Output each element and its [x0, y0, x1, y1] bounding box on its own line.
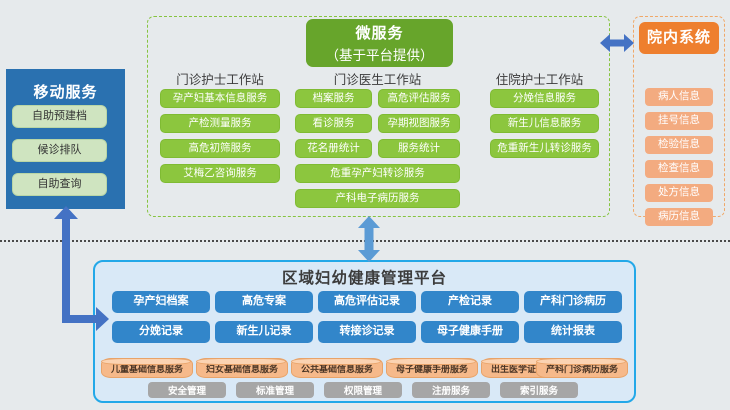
mobile-item-0[interactable]: 自助预建档 — [12, 105, 107, 128]
platform-button-r2-0[interactable]: 分娩记录 — [112, 321, 210, 343]
microservice-header: 微服务 （基于平台提供） — [306, 19, 453, 67]
platform-button-r2-1[interactable]: 新生儿记录 — [215, 321, 313, 343]
mobile-item-1[interactable]: 候诊排队 — [12, 139, 107, 162]
data-service-label-2: 公共基础信息服务 — [301, 362, 373, 375]
data-service-label-3: 母子健康手册服务 — [396, 362, 468, 375]
service-outpatient-nurse-0[interactable]: 孕产妇基本信息服务 — [160, 89, 280, 108]
platform-button-r2-2[interactable]: 转接诊记录 — [318, 321, 416, 343]
service-outpatient-nurse-2[interactable]: 高危初筛服务 — [160, 139, 280, 158]
hospital-system-title: 院内系统 — [639, 22, 719, 54]
service-outpatient-doctor-2[interactable]: 看诊服务 — [295, 114, 372, 133]
column-title-inpatient-nurse: 住院护士工作站 — [477, 69, 602, 88]
connector-mobile-to-platform-icon — [44, 205, 114, 330]
management-service-2[interactable]: 权限管理 — [324, 382, 402, 398]
data-service-0[interactable]: 儿童基础信息服务 — [101, 358, 193, 378]
hospital-item-0[interactable]: 病人信息 — [645, 88, 713, 106]
management-service-0[interactable]: 安全管理 — [148, 382, 226, 398]
hospital-item-3[interactable]: 检查信息 — [645, 160, 713, 178]
data-service-label-0: 儿童基础信息服务 — [111, 362, 183, 375]
architecture-diagram: 移动服务 自助预建档 候诊排队 自助查询 微服务 （基于平台提供） 门诊护士工作… — [0, 0, 730, 410]
management-service-3[interactable]: 注册服务 — [412, 382, 490, 398]
microservice-title-line1: 微服务 — [355, 22, 403, 43]
data-service-3[interactable]: 母子健康手册服务 — [386, 358, 478, 378]
service-outpatient-doctor-6[interactable]: 危重孕产妇转诊服务 — [295, 164, 460, 183]
column-title-outpatient-nurse: 门诊护士工作站 — [160, 69, 280, 88]
platform-button-r2-4[interactable]: 统计报表 — [524, 321, 622, 343]
hospital-item-4[interactable]: 处方信息 — [645, 184, 713, 202]
platform-button-r1-4[interactable]: 产科门诊病历 — [524, 291, 622, 313]
service-inpatient-nurse-0[interactable]: 分娩信息服务 — [490, 89, 599, 108]
management-service-4[interactable]: 索引服务 — [500, 382, 578, 398]
service-outpatient-doctor-0[interactable]: 档案服务 — [295, 89, 372, 108]
platform-title: 区域妇幼健康管理平台 — [93, 266, 636, 288]
service-outpatient-doctor-7[interactable]: 产科电子病历服务 — [295, 189, 460, 208]
data-service-5[interactable]: 产科门诊病历服务 — [536, 358, 628, 378]
service-outpatient-nurse-3[interactable]: 艾梅乙咨询服务 — [160, 164, 280, 183]
platform-button-r1-3[interactable]: 产检记录 — [421, 291, 519, 313]
hospital-item-2[interactable]: 检验信息 — [645, 136, 713, 154]
platform-button-r1-2[interactable]: 高危评估记录 — [318, 291, 416, 313]
hospital-item-1[interactable]: 挂号信息 — [645, 112, 713, 130]
service-outpatient-nurse-1[interactable]: 产检测量服务 — [160, 114, 280, 133]
hospital-item-5[interactable]: 病历信息 — [645, 208, 713, 226]
column-title-outpatient-doctor: 门诊医生工作站 — [295, 69, 460, 88]
mobile-service-title: 移动服务 — [6, 81, 125, 102]
management-service-1[interactable]: 标准管理 — [236, 382, 314, 398]
service-outpatient-doctor-5[interactable]: 服务统计 — [378, 139, 460, 158]
service-outpatient-doctor-4[interactable]: 花名册统计 — [295, 139, 372, 158]
service-inpatient-nurse-1[interactable]: 新生儿信息服务 — [490, 114, 599, 133]
service-outpatient-doctor-1[interactable]: 高危评估服务 — [378, 89, 460, 108]
service-outpatient-doctor-3[interactable]: 孕期视图服务 — [378, 114, 460, 133]
platform-button-r1-0[interactable]: 孕产妇档案 — [112, 291, 210, 313]
data-service-2[interactable]: 公共基础信息服务 — [291, 358, 383, 378]
service-inpatient-nurse-2[interactable]: 危重新生儿转诊服务 — [490, 139, 599, 158]
connector-micro-to-hospital-icon — [600, 30, 634, 56]
connector-micro-to-platform-icon — [356, 216, 382, 262]
data-service-label-1: 妇女基础信息服务 — [206, 362, 278, 375]
microservice-title-line2: （基于平台提供） — [326, 44, 434, 64]
data-service-1[interactable]: 妇女基础信息服务 — [196, 358, 288, 378]
platform-button-r1-1[interactable]: 高危专案 — [215, 291, 313, 313]
mobile-item-2[interactable]: 自助查询 — [12, 173, 107, 196]
data-service-label-5: 产科门诊病历服务 — [546, 362, 618, 375]
platform-button-r2-3[interactable]: 母子健康手册 — [421, 321, 519, 343]
